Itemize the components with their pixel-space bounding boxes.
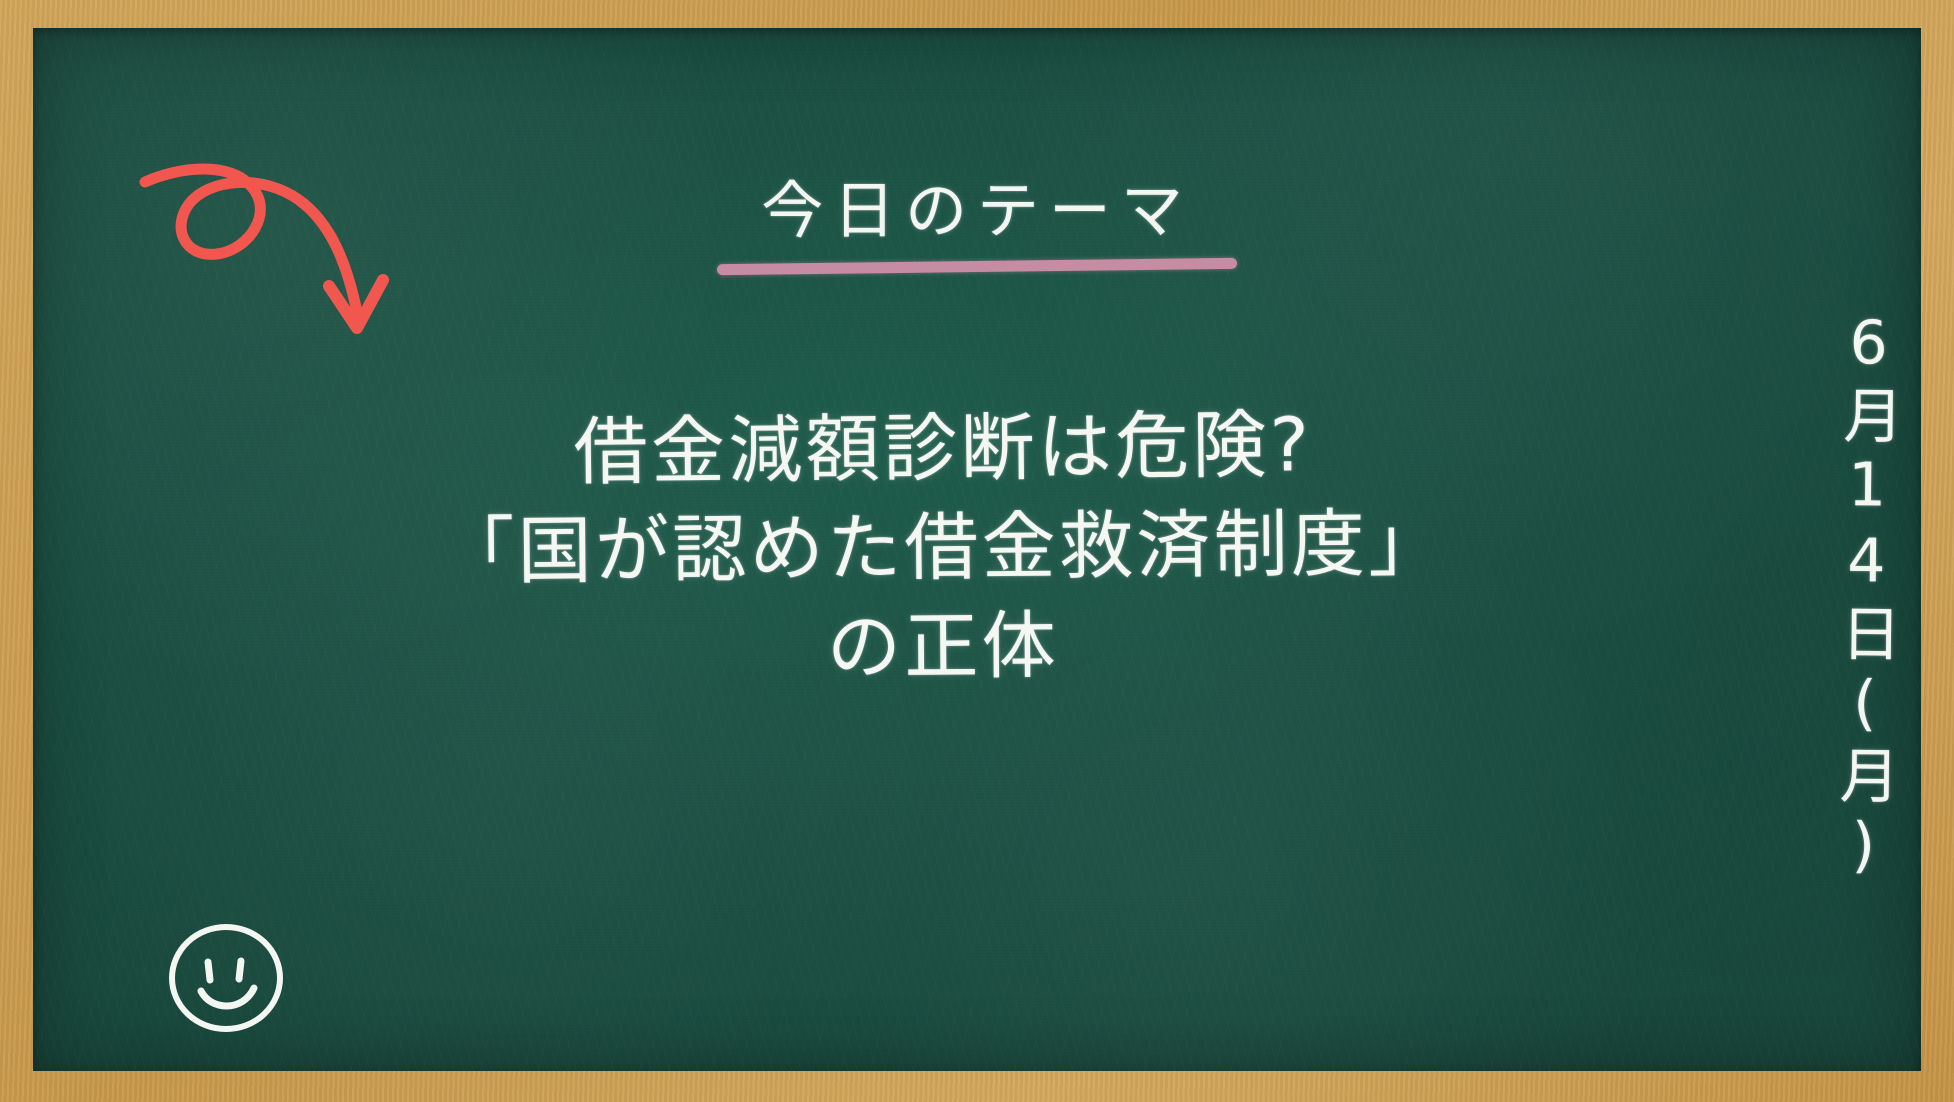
title-line-3: の正体 (183, 593, 1704, 703)
title-line-1: 借金減額診断は危険? (183, 392, 1704, 507)
date-label: 6月14日(月) (1760, 307, 1906, 886)
curly-arrow-icon (133, 138, 423, 368)
smiley-face-icon (161, 918, 291, 1038)
title-line-2: 「国が認めた借金救済制度」 (183, 493, 1704, 605)
slide-canvas: 今日のテーマ 借金減額診断は危険? 「国が認めた借金救済制度」 の正体 6月14… (0, 0, 1954, 1102)
heading-underline (717, 258, 1237, 275)
heading-block: 今日のテーマ (33, 178, 1921, 243)
heading-label: 今日のテーマ (761, 178, 1193, 243)
chalkboard-surface: 今日のテーマ 借金減額診断は危険? 「国が認めた借金救済制度」 の正体 6月14… (33, 28, 1921, 1071)
title-block: 借金減額診断は危険? 「国が認めた借金救済制度」 の正体 (183, 400, 1703, 697)
